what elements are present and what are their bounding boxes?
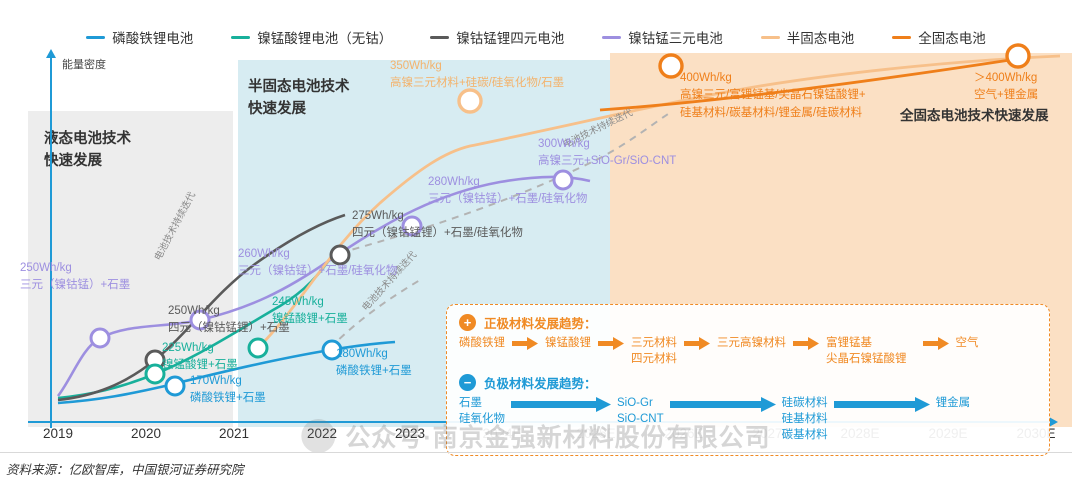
callout-260-ncm: 260Wh/kg 三元（镍钴锰）+石墨/硅氧化物 xyxy=(238,246,397,279)
callout-material: 空气+锂金属 xyxy=(974,87,1038,104)
callout-material: 四元（镍钴锰锂）+石墨/硅氧化物 xyxy=(352,225,523,242)
callout-material: 三元（镍钴锰）+石墨/硅氧化物 xyxy=(428,191,587,208)
legend-item-lfp[interactable]: 磷酸铁锂电池 xyxy=(86,27,193,47)
callout-value: 245Wh/kg xyxy=(272,294,348,311)
legend-label-quaternary: 镍钴锰锂四元电池 xyxy=(456,27,564,47)
arrow-right-icon xyxy=(793,337,819,355)
callout-value: 280Wh/kg xyxy=(428,174,587,191)
cathode-step-5: 富锂锰基 尖晶石镍锰酸锂 xyxy=(826,335,907,367)
callout-value: 350Wh/kg xyxy=(390,58,564,75)
callout-material: 镍锰酸锂+石墨 xyxy=(272,311,348,328)
cathode-step-4: 三元高镍材料 xyxy=(717,335,786,351)
watermark-logo-icon xyxy=(301,419,335,453)
callout-275-quaternary: 275Wh/kg 四元（镍钴锰锂）+石墨/硅氧化物 xyxy=(352,208,523,241)
arrow-right-icon xyxy=(670,397,776,417)
callout-value: 180Wh/kg xyxy=(336,346,412,363)
callout-material: 磷酸铁锂+石墨 xyxy=(336,363,412,380)
callout-225-lnmo: 225Wh/kg 镍锰酸锂+石墨 xyxy=(162,340,238,373)
callout-250-ncm: 250Wh/kg 三元（镍钴锰）+石墨 xyxy=(20,260,130,293)
anode-step-4: 锂金属 xyxy=(936,395,971,411)
callout-value: 300Wh/kg xyxy=(538,136,676,153)
footer-divider xyxy=(0,452,1072,453)
arrow-right-icon xyxy=(834,397,930,417)
point-marker-ncm-2019 xyxy=(91,329,109,347)
cathode-chain: 磷酸铁锂 镍锰酸锂 三元材料 四元材料 三元高镍材料 富锂锰基 尖晶石镍锰酸锂 xyxy=(459,335,1037,367)
callout-value: 250Wh/kg xyxy=(20,260,130,277)
callout-180-lfp: 180Wh/kg 磷酸铁锂+石墨 xyxy=(336,346,412,379)
callout-300-ncm: 300Wh/kg 高镍三元+SiO-Gr/SiO-CNT xyxy=(538,136,676,169)
cathode-step-6: 空气 xyxy=(956,335,979,351)
legend-swatch-quaternary xyxy=(430,36,449,39)
legend-label-allsolid: 全固态电池 xyxy=(918,27,986,47)
legend-swatch-semisolid xyxy=(761,36,780,39)
legend-swatch-lfp xyxy=(86,36,105,39)
callout-material: 三元（镍钴锰）+石墨/硅氧化物 xyxy=(238,263,397,280)
callout-value: ＞400Wh/kg xyxy=(974,70,1038,87)
callout-170-lfp: 170Wh/kg 磷酸铁锂+石墨 xyxy=(190,373,266,406)
anode-title: 负极材料发展趋势： xyxy=(484,373,597,392)
watermark: 公众号·南京金强新材料股份有限公司 xyxy=(301,418,770,454)
arrow-right-icon xyxy=(684,337,710,355)
callout-245-lnmo: 245Wh/kg 镍锰酸锂+石墨 xyxy=(272,294,348,327)
source-note: 资料来源：亿欧智库，中国银河证券研究院 xyxy=(6,459,244,478)
point-marker-allsolid-2026 xyxy=(660,55,682,77)
cathode-title: 正极材料发展趋势： xyxy=(484,313,597,332)
point-marker-lfp-2020 xyxy=(166,377,184,395)
legend-swatch-ncm xyxy=(602,36,621,39)
plot-area: 液态电池技术 快速发展 半固态电池技术 快速发展 全固态电池技术快速发展 能量密… xyxy=(0,48,1072,428)
legend-swatch-lnmo xyxy=(231,36,250,39)
anode-header: − 负极材料发展趋势： xyxy=(459,373,1037,392)
callout-material: 高镍三元/富锂锰基/尖晶石镍锰酸锂+ 硅基材料/碳基材料/锂金属/硅碳材料 xyxy=(680,87,866,122)
callout-350-semisolid: 350Wh/kg 高镍三元材料+硅碳/硅氧化物/石墨 xyxy=(390,58,564,91)
watermark-text: 公众号·南京金强新材料股份有限公司 xyxy=(345,418,770,454)
callout-over400-allsolid: ＞400Wh/kg 空气+锂金属 xyxy=(974,70,1038,103)
callout-value: 170Wh/kg xyxy=(190,373,266,390)
callout-value: 260Wh/kg xyxy=(238,246,397,263)
callout-material: 高镍三元材料+硅碳/硅氧化物/石墨 xyxy=(390,75,564,92)
point-marker-semisolid-2024 xyxy=(459,90,481,112)
chart-root: 磷酸铁锂电池 镍锰酸锂电池（无钴） 镍钴锰锂四元电池 镍钴锰三元电池 半固态电池… xyxy=(0,0,1072,484)
cathode-step-1: 磷酸铁锂 xyxy=(459,335,505,351)
callout-value: 275Wh/kg xyxy=(352,208,523,225)
cathode-step-3: 三元材料 四元材料 xyxy=(631,335,677,367)
legend-item-lnmo[interactable]: 镍锰酸锂电池（无钴） xyxy=(231,27,392,47)
arrow-right-icon xyxy=(598,337,624,355)
legend-label-lfp: 磷酸铁锂电池 xyxy=(112,27,193,47)
cathode-step-2: 镍锰酸锂 xyxy=(545,335,591,351)
callout-value: 400Wh/kg xyxy=(680,70,866,87)
cathode-header: + 正极材料发展趋势： xyxy=(459,313,1037,332)
chart-legend: 磷酸铁锂电池 镍锰酸锂电池（无钴） 镍钴锰锂四元电池 镍钴锰三元电池 半固态电池… xyxy=(0,26,1072,48)
legend-item-ncm[interactable]: 镍钴锰三元电池 xyxy=(602,27,723,47)
callout-400-allsolid: 400Wh/kg 高镍三元/富锂锰基/尖晶石镍锰酸锂+ 硅基材料/碳基材料/锂金… xyxy=(680,70,866,122)
minus-icon: − xyxy=(459,374,476,391)
callout-material: 三元（镍钴锰）+石墨 xyxy=(20,277,130,294)
arrow-right-icon xyxy=(923,337,949,355)
plus-icon: + xyxy=(459,314,476,331)
arrow-right-icon xyxy=(512,337,538,355)
x-tick-2021: 2021 xyxy=(219,426,249,441)
legend-item-semisolid[interactable]: 半固态电池 xyxy=(761,27,855,47)
callout-280-ncm: 280Wh/kg 三元（镍钴锰）+石墨/硅氧化物 xyxy=(428,174,587,207)
anode-step-3: 硅碳材料 硅基材料 碳基材料 xyxy=(782,395,828,443)
legend-label-lnmo: 镍锰酸锂电池（无钴） xyxy=(257,27,392,47)
legend-label-semisolid: 半固态电池 xyxy=(787,27,855,47)
point-marker-allsolid-2030 xyxy=(1007,45,1029,67)
point-marker-lnmo-2021 xyxy=(249,339,267,357)
x-tick-2020: 2020 xyxy=(131,426,161,441)
legend-item-quaternary[interactable]: 镍钴锰锂四元电池 xyxy=(430,27,564,47)
legend-item-allsolid[interactable]: 全固态电池 xyxy=(892,27,986,47)
callout-material: 磷酸铁锂+石墨 xyxy=(190,390,266,407)
legend-label-ncm: 镍钴锰三元电池 xyxy=(628,27,723,47)
callout-material: 镍锰酸锂+石墨 xyxy=(162,357,238,374)
callout-value: 225Wh/kg xyxy=(162,340,238,357)
arrow-right-icon xyxy=(511,397,611,417)
callout-material: 高镍三元+SiO-Gr/SiO-CNT xyxy=(538,153,676,170)
legend-swatch-allsolid xyxy=(892,36,911,39)
x-tick-2019: 2019 xyxy=(43,426,73,441)
